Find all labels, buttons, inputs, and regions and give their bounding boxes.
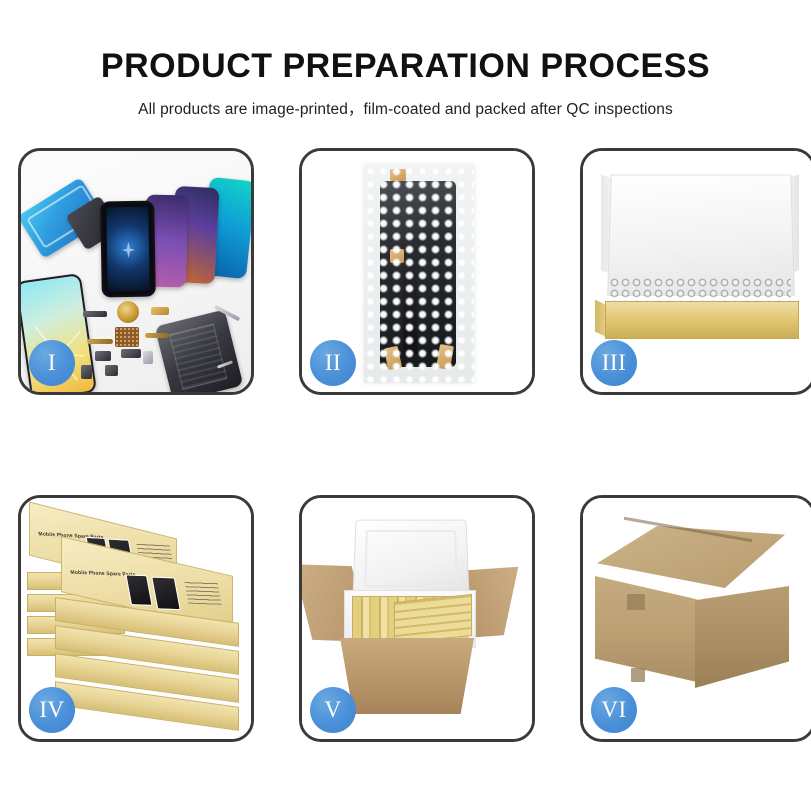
bubble-texture-icon <box>364 165 474 383</box>
vibrator-icon <box>105 365 118 376</box>
page-title: PRODUCT PREPARATION PROCESS <box>0 0 811 85</box>
gold-boxes-inside-icon <box>394 594 472 644</box>
lcd-flex-cable-icon <box>403 248 417 356</box>
step-card-6[interactable]: VI <box>580 495 811 742</box>
gold-connector-icon <box>151 307 169 315</box>
step-badge-5: V <box>310 687 356 733</box>
bga-chip-icon <box>115 327 139 347</box>
sim-tray-icon <box>81 365 92 379</box>
foam-lid-icon <box>352 520 469 599</box>
step-badge-3: III <box>591 340 637 386</box>
box-screen-image <box>151 577 181 611</box>
product-preparation-infographic: PRODUCT PREPARATION PROCESS All products… <box>0 0 811 811</box>
phone-chassis-icon <box>155 309 244 395</box>
step-badge-2: II <box>310 340 356 386</box>
tape-piece-icon <box>436 344 454 370</box>
step-badge-6: VI <box>591 687 637 733</box>
header: PRODUCT PREPARATION PROCESS All products… <box>0 0 811 119</box>
carton-tape-icon <box>627 594 645 610</box>
antenna-chip-icon <box>83 311 107 317</box>
step-card-3[interactable]: III <box>580 148 811 395</box>
box-spec-lines <box>184 581 222 605</box>
ic-chip-icon <box>121 349 141 358</box>
carton-tape-icon <box>631 668 645 682</box>
step-card-4[interactable]: Mobile Phone Spare Parts Mobile Phone Sp… <box>18 495 254 742</box>
bubble-wrap-bag-icon <box>364 165 474 383</box>
box-screen-image <box>125 574 152 606</box>
lcd-screen-icon <box>380 181 456 367</box>
battery-connector-icon <box>143 351 153 364</box>
step-badge-1: I <box>29 340 75 386</box>
flex-cable-icon <box>145 333 169 338</box>
page-subtitle: All products are image-printed，film-coat… <box>0 85 811 119</box>
step-card-1[interactable]: I <box>18 148 254 395</box>
carton-body-icon <box>340 638 474 714</box>
step-badge-4: IV <box>29 687 75 733</box>
gold-box-body-icon <box>605 301 799 339</box>
carton-side-face-icon <box>695 586 789 688</box>
flex-cable-icon <box>87 339 113 344</box>
phone-front-glass-icon <box>100 201 156 298</box>
speaker-coil-icon <box>117 301 139 323</box>
steps-grid: I II <box>18 148 793 742</box>
carton-front-face-icon <box>595 576 697 682</box>
carton-top-face-icon <box>597 526 785 588</box>
tape-piece-icon <box>390 249 404 263</box>
camera-module-icon <box>95 351 111 361</box>
step-card-2[interactable]: II <box>299 148 535 395</box>
step-card-5[interactable]: V <box>299 495 535 742</box>
tape-piece-icon <box>390 169 406 181</box>
tape-piece-icon <box>384 346 402 370</box>
